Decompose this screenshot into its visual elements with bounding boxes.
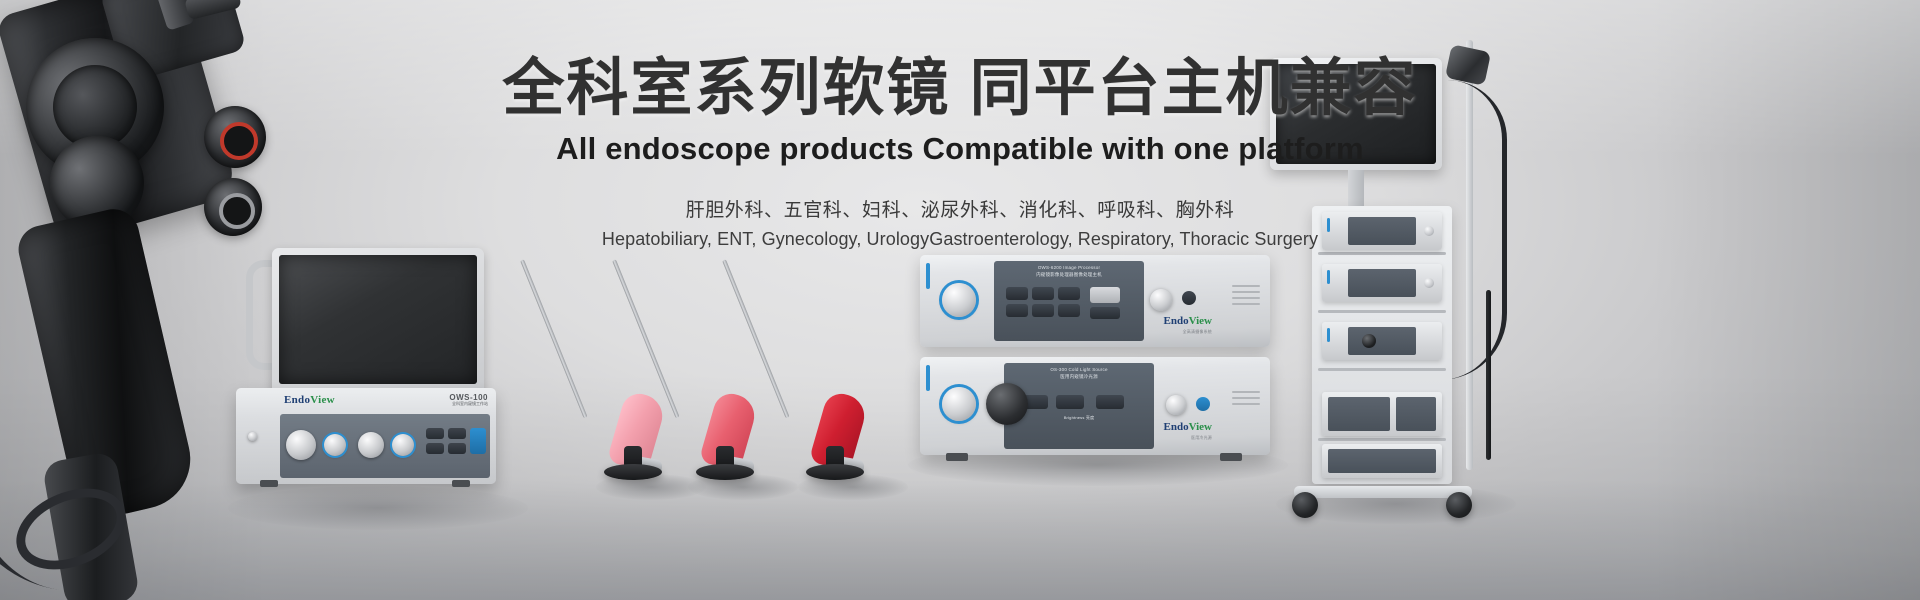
hero-banner: EndoView OWS-100 全科室内窥镜工作站: [0, 0, 1920, 600]
processor-panel-title: OWS-6200 Image Processor 内窥镜影像处理器图像处理主机: [994, 265, 1144, 279]
image-processor-unit: OWS-6200 Image Processor 内窥镜影像处理器图像处理主机 …: [920, 255, 1270, 347]
processor-brand-logo: EndoView: [1164, 315, 1213, 327]
console-port-1[interactable]: [286, 430, 316, 460]
processor-control-panel: OWS-6200 Image Processor 内窥镜影像处理器图像处理主机: [994, 261, 1144, 341]
console-indicator-led: [248, 432, 257, 441]
instrument-shaft: [520, 259, 587, 418]
processor-main-port[interactable]: [942, 283, 976, 317]
light-source-title-cn: 医用内窥镜冷光源: [1060, 374, 1098, 379]
console-port-3[interactable]: [358, 432, 384, 458]
console-model-label: OWS-100 全科室内窥镜工作站: [449, 393, 488, 407]
console-model-subtext: 全科室内窥镜工作站: [449, 402, 488, 407]
light-source-panel-title: OS-300 Cold Light Source 医用内窥镜冷光源: [1004, 367, 1154, 381]
light-source-output-port[interactable]: [942, 387, 976, 421]
processor-vent-4: [1232, 303, 1260, 305]
light-source-vent-3: [1232, 403, 1260, 405]
processor-button-4[interactable]: [1006, 304, 1028, 317]
processor-accent-bar: [926, 263, 930, 289]
laparoscopic-instrument-red: [714, 258, 874, 488]
cart-unit-5-panel: [1328, 449, 1436, 473]
cart-shelf-3: [1318, 368, 1446, 371]
instrument-stand-base: [806, 464, 864, 480]
console-port-2[interactable]: [324, 434, 346, 456]
processor-brand-suffix: View: [1189, 315, 1212, 327]
cart-unit-2: [1322, 264, 1442, 302]
console-foot-right: [452, 480, 470, 487]
light-source-accent-bar: [926, 365, 930, 391]
cart-unit-2-accent: [1327, 270, 1330, 284]
processor-stack: OWS-6200 Image Processor 内窥镜影像处理器图像处理主机 …: [920, 255, 1270, 455]
light-source-knob-label: Brightness 亮度: [1004, 415, 1154, 421]
cart-unit-4: [1322, 392, 1442, 436]
console-button-1[interactable]: [426, 428, 444, 439]
processor-button-7[interactable]: [1090, 307, 1120, 319]
console-button-3[interactable]: [426, 443, 444, 454]
processor-title-en: OWS-6200 Image Processor: [1038, 265, 1100, 270]
cart-unit-2-panel: [1348, 269, 1416, 297]
cart-unit-2-knob[interactable]: [1424, 278, 1434, 288]
processor-vent-2: [1232, 291, 1260, 293]
processor-title-cn: 内窥镜影像处理器图像处理主机: [1036, 272, 1102, 277]
cart-unit-3: [1322, 322, 1442, 360]
console-control-panel: [280, 414, 490, 478]
processor-vent-3: [1232, 297, 1260, 299]
console-base: EndoView OWS-100 全科室内窥镜工作站: [236, 388, 496, 484]
processor-usb-port[interactable]: [1090, 287, 1120, 303]
banner-specialties-en: Hepatobiliary, ENT, Gynecology, UrologyG…: [0, 229, 1920, 250]
light-source-button-2[interactable]: [1056, 395, 1084, 409]
cart-unit-3-knob[interactable]: [1362, 334, 1376, 348]
light-source-title-en: OS-300 Cold Light Source: [1050, 367, 1107, 372]
processor-button-1[interactable]: [1006, 287, 1028, 300]
processor-aux-knob[interactable]: [1150, 289, 1172, 311]
processor-brand-prefix: Endo: [1164, 315, 1189, 327]
endoscope-workstation-console: EndoView OWS-100 全科室内窥镜工作站: [236, 248, 496, 498]
banner-specialties-cn: 肝胆外科、五官科、妇科、泌尿外科、消化科、呼吸科、胸外科: [0, 195, 1920, 222]
instrument-shaft: [722, 259, 789, 418]
light-source-vent-1: [1232, 391, 1260, 393]
cold-light-source-unit: OS-300 Cold Light Source 医用内窥镜冷光源 Bright…: [920, 357, 1270, 455]
console-foot-left: [260, 480, 278, 487]
banner-subheadline: All endoscope products Compatible with o…: [0, 131, 1920, 167]
light-source-brand-sub: 医用冷光源: [1191, 435, 1212, 441]
console-port-4[interactable]: [392, 434, 414, 456]
light-source-button-3[interactable]: [1096, 395, 1124, 409]
cart-shelf-4: [1318, 438, 1446, 441]
console-monitor-screen: [279, 255, 477, 384]
cart-unit-3-accent: [1327, 328, 1330, 342]
cart-unit-3-panel: [1348, 327, 1416, 355]
light-source-brand-suffix: View: [1189, 421, 1212, 433]
light-source-brand-prefix: Endo: [1164, 421, 1189, 433]
cart-wheel-left: [1292, 492, 1318, 518]
cart-unit-4-panel-right: [1396, 397, 1436, 431]
light-source-aux-knob[interactable]: [1166, 395, 1186, 415]
processor-brand-sub: 全高清摄像系统: [1183, 329, 1212, 335]
banner-headline: 全科室系列软镜 同平台主机兼容: [0, 52, 1920, 125]
stack-foot-right: [1220, 453, 1242, 461]
stack-foot-left: [946, 453, 968, 461]
banner-text-block: 全科室系列软镜 同平台主机兼容 All endoscope products C…: [0, 52, 1920, 250]
console-brand-suffix: View: [310, 394, 335, 406]
cart-endoscope-insertion-tube: [1486, 290, 1491, 460]
processor-button-2[interactable]: [1032, 287, 1054, 300]
console-brand-prefix: Endo: [284, 394, 310, 406]
console-button-2[interactable]: [448, 428, 466, 439]
instrument-shaft: [612, 259, 679, 418]
console-brand-logo: EndoView: [284, 394, 335, 406]
light-source-brand-logo: EndoView: [1164, 421, 1213, 433]
cart-base-plate: [1294, 486, 1472, 498]
console-monitor-frame: [272, 248, 484, 393]
cart-unit-4-panel-left: [1328, 397, 1390, 431]
console-power-button[interactable]: [470, 428, 486, 454]
cart-unit-5: [1322, 444, 1442, 478]
processor-power-button[interactable]: [1182, 291, 1196, 305]
light-source-vent-2: [1232, 397, 1260, 399]
processor-button-5[interactable]: [1032, 304, 1054, 317]
cart-shelf-1: [1318, 252, 1446, 255]
light-source-brightness-knob[interactable]: [986, 383, 1028, 425]
processor-vent-1: [1232, 285, 1260, 287]
cart-shelf-2: [1318, 310, 1446, 313]
light-source-power-button[interactable]: [1196, 397, 1210, 411]
console-button-4[interactable]: [448, 443, 466, 454]
processor-button-6[interactable]: [1058, 304, 1080, 317]
cart-wheel-right: [1446, 492, 1472, 518]
processor-button-3[interactable]: [1058, 287, 1080, 300]
